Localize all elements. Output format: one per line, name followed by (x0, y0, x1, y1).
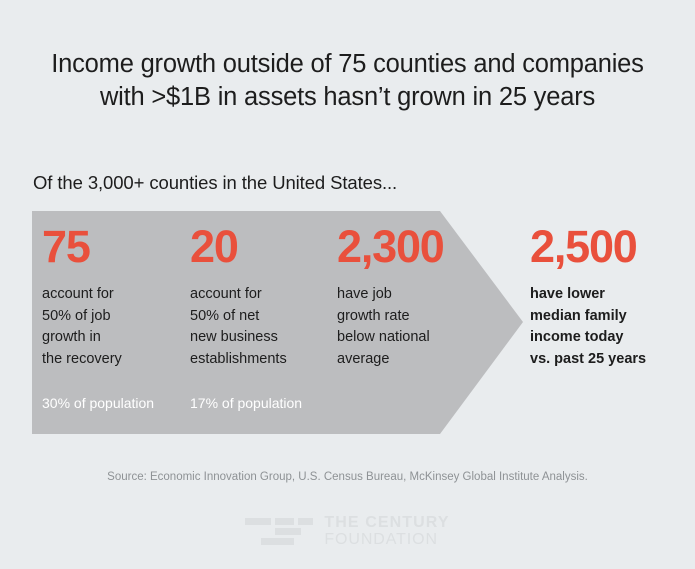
logo-wordmark: THE CENTURY FOUNDATION (324, 514, 449, 548)
stat-number: 75 (42, 222, 182, 272)
stat-description-line: new business (190, 327, 330, 349)
stat-description-line: establishments (190, 349, 330, 371)
stat-description-line: below national (337, 327, 497, 349)
stat-description-line: account for (190, 284, 330, 306)
organization-logo: THE CENTURY FOUNDATION (0, 514, 695, 548)
stat-description: have job growth rate below national aver… (337, 284, 497, 370)
stat-number: 2,300 (337, 222, 497, 272)
stat-description-line: 50% of net (190, 306, 330, 328)
stat-description: account for 50% of job growth in the rec… (42, 284, 182, 370)
stat-column-4: 2,500 have lower median family income to… (530, 222, 690, 370)
stat-description-line: have lower (530, 284, 690, 306)
stat-description-line: account for (42, 284, 182, 306)
stat-column-1: 75 account for 50% of job growth in the … (42, 222, 182, 413)
stat-description-line: median family (530, 306, 690, 328)
infographic-canvas: Income growth outside of 75 counties and… (0, 0, 695, 569)
stat-description-line: growth rate (337, 306, 497, 328)
page-title: Income growth outside of 75 counties and… (0, 48, 695, 114)
stat-description-line: average (337, 349, 497, 371)
logo-line-1: THE CENTURY (324, 514, 449, 531)
stat-number: 20 (190, 222, 330, 272)
stacked-bars-mark-icon (245, 515, 313, 547)
source-citation: Source: Economic Innovation Group, U.S. … (0, 471, 695, 483)
stat-description-line: the recovery (42, 349, 182, 371)
stat-description-line: have job (337, 284, 497, 306)
logo-line-2: FOUNDATION (324, 531, 449, 548)
stat-description-line: 50% of job (42, 306, 182, 328)
stat-description-line: vs. past 25 years (530, 349, 690, 371)
stat-column-2: 20 account for 50% of net new business e… (190, 222, 330, 413)
stat-description-line: growth in (42, 327, 182, 349)
stat-number: 2,500 (530, 222, 690, 272)
stat-population-note: 17% of population (190, 394, 330, 413)
stat-column-3: 2,300 have job growth rate below nationa… (337, 222, 497, 370)
stat-description: account for 50% of net new business esta… (190, 284, 330, 370)
stat-description-line: income today (530, 327, 690, 349)
title-line-1: Income growth outside of 75 counties and… (0, 48, 695, 81)
stat-description: have lower median family income today vs… (530, 284, 690, 370)
subtitle: Of the 3,000+ counties in the United Sta… (33, 171, 397, 195)
stat-population-note: 30% of population (42, 394, 182, 413)
title-line-2: with >$1B in assets hasn’t grown in 25 y… (0, 81, 695, 114)
